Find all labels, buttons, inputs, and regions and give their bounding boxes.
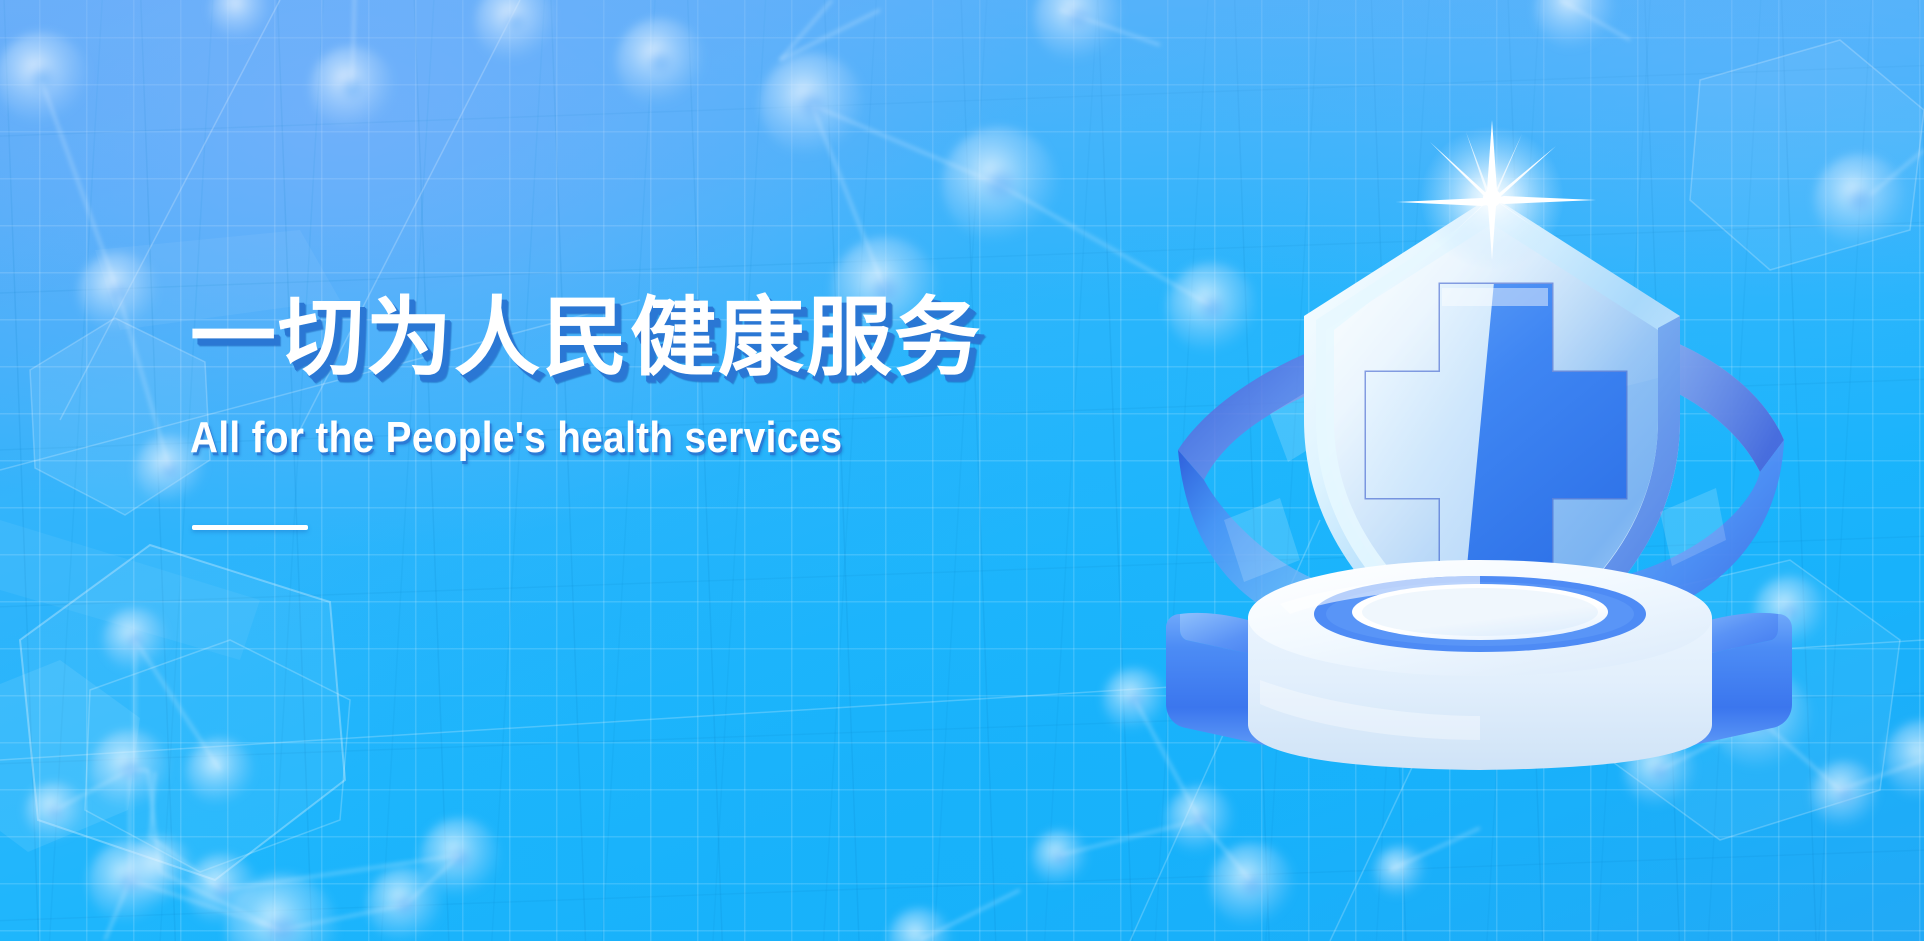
title-divider [192, 525, 308, 530]
page-title: 一切为人民健康服务 [190, 290, 1090, 386]
banner-text-block: 一切为人民健康服务 All for the People's health se… [190, 290, 1090, 530]
shield-illustration [1160, 120, 1800, 820]
health-banner: .hxs { fill:none; stroke:rgba(255,255,25… [0, 0, 1924, 941]
page-subtitle: All for the People's health services [190, 414, 982, 462]
